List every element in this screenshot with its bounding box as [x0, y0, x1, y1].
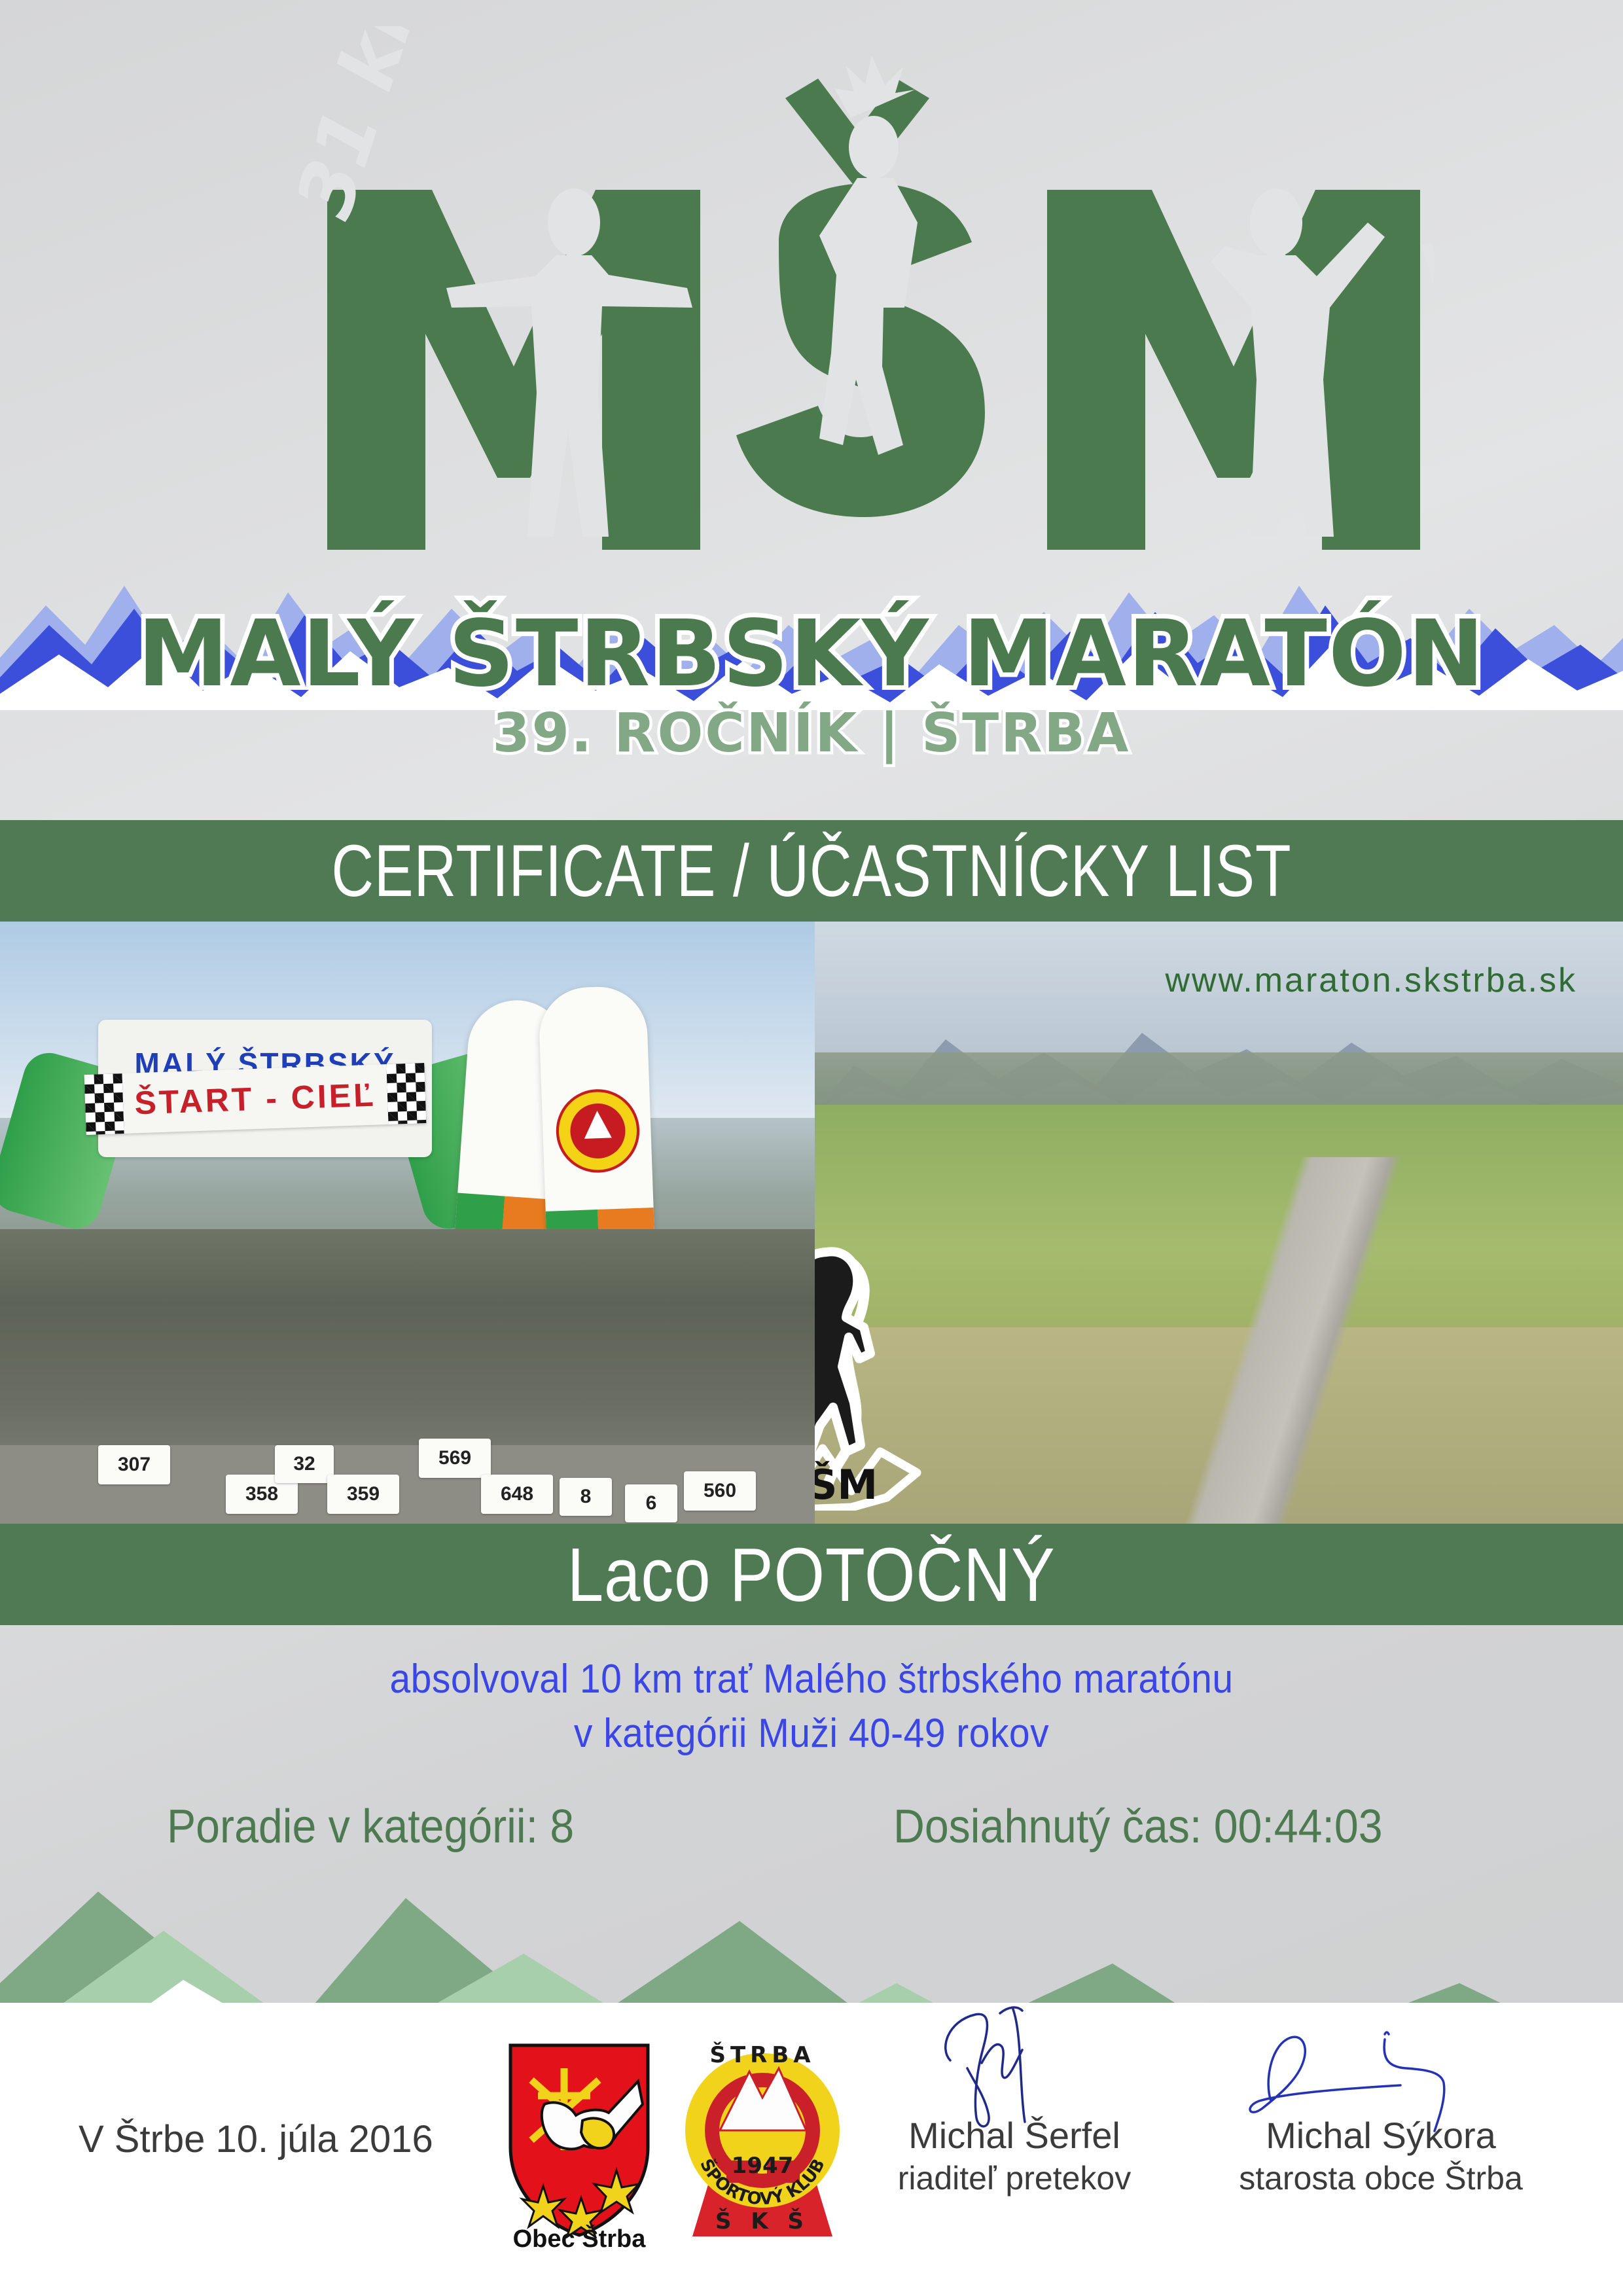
signature-role: riaditeľ pretekov — [811, 2159, 1217, 2197]
bib-number: 6 — [625, 1484, 677, 1522]
start-finish-text: ŠTART - CIEĽ — [134, 1076, 376, 1122]
signature-block-mayor: Michal Sýkora starosta obce Štrba — [1178, 2003, 1584, 2197]
signature-role: starosta obce Štrba — [1178, 2159, 1584, 2197]
bib-number: 569 — [419, 1439, 491, 1478]
photo-course-route: www.maraton.skstrba.sk MŠM — [815, 922, 1623, 1524]
msm-logo: 31 km 10 km — [0, 26, 1623, 569]
issue-date: V Štrbe 10. júla 2016 — [79, 2117, 433, 2161]
certificate-banner: CERTIFICATE / ÚČASTNÍCKY LIST — [0, 820, 1623, 922]
results-row: Poradie v kategórii: 8 Dosiahnutý čas: 0… — [0, 1800, 1623, 1872]
checker-flag-left — [84, 1073, 124, 1135]
municipality-crest-icon — [504, 2042, 654, 2238]
finish-time-value: 00:44:03 — [1214, 1801, 1383, 1853]
club-year: 1947 — [732, 2153, 794, 2179]
bib-number: 307 — [98, 1445, 170, 1484]
website-url[interactable]: www.maraton.skstrba.sk — [1166, 961, 1578, 1000]
logo-block: 31 km 10 km — [0, 0, 1623, 792]
bib-number: 32 — [275, 1445, 334, 1483]
achievement-line-1: absolvoval 10 km trať Malého štrbského m… — [65, 1656, 1558, 1702]
bib-number: 8 — [560, 1478, 612, 1516]
category-rank-label: Poradie v kategórii: — [167, 1801, 538, 1853]
msm-runner-badge: MŠM — [815, 1229, 946, 1511]
signature-block-director: Michal Šerfel riaditeľ pretekov — [811, 2003, 1217, 2197]
achievement-line-2: v kategórii Muži 40-49 rokov — [65, 1710, 1558, 1757]
photo-band: MALÝ ŠTRBSKÝ MARATÓN ŠTART - CIEĽ — [0, 922, 1623, 1524]
club-bottom-text: Š K Š — [715, 2208, 810, 2234]
finish-time-label: Dosiahnutý čas: — [893, 1801, 1202, 1853]
municipality-crest-label: Obec Štrba — [504, 2225, 654, 2253]
photo-start-line: MALÝ ŠTRBSKÝ MARATÓN ŠTART - CIEĽ — [0, 922, 815, 1524]
msm-letters-svg: 31 km 10 km — [190, 26, 1433, 569]
msm-badge-text: MŠM — [815, 1461, 878, 1509]
checker-flag-right — [386, 1063, 426, 1124]
category-rank: Poradie v kategórii: 8 — [167, 1800, 574, 1854]
participant-name: Laco POTOČNÝ — [567, 1531, 1056, 1619]
course-road — [1025, 1157, 1574, 1524]
bib-number: 648 — [481, 1475, 553, 1514]
certificate-title: CERTIFICATE / ÚČASTNÍCKY LIST — [332, 829, 1292, 913]
sks-flag-emblem — [550, 1084, 645, 1179]
event-subtitle: 39. ROČNÍK | ŠTRBA — [0, 707, 1623, 761]
signature-name: Michal Sýkora — [1178, 2114, 1584, 2157]
bib-number: 359 — [327, 1475, 399, 1514]
signature-name: Michal Šerfel — [811, 2114, 1217, 2157]
bib-number: 560 — [684, 1471, 756, 1511]
certificate-page: 31 km 10 km — [0, 0, 1623, 2296]
category-rank-value: 8 — [550, 1801, 574, 1853]
club-top-text: ŠTRBA — [709, 2041, 815, 2068]
event-title: MALÝ ŠTRBSKÝ MARATÓN — [0, 609, 1623, 700]
participant-name-banner: Laco POTOČNÝ — [0, 1524, 1623, 1625]
start-finish-banner: ŠTART - CIEĽ — [84, 1063, 427, 1135]
finish-time: Dosiahnutý čas: 00:44:03 — [893, 1800, 1383, 1854]
